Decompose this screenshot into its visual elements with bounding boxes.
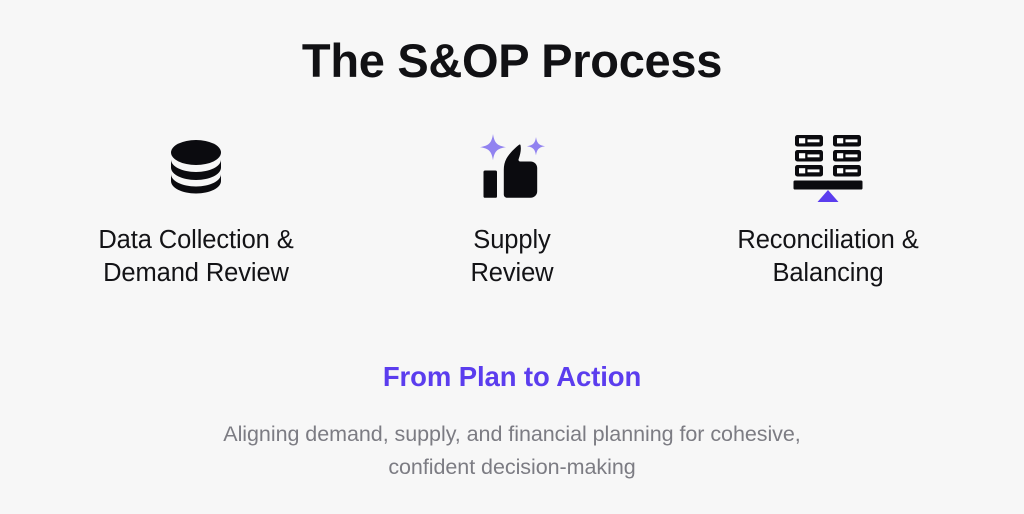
slide-canvas: The S&OP Process Data Collection & Deman…	[0, 0, 1024, 514]
inventory-blocks	[795, 135, 861, 177]
process-step-label: Supply Review	[470, 224, 553, 289]
process-step-label: Reconciliation & Balancing	[737, 224, 918, 289]
process-steps-row: Data Collection & Demand Review Supply R…	[46, 128, 978, 289]
database-icon	[146, 128, 246, 202]
page-title: The S&OP Process	[0, 33, 1024, 88]
balance-scale-icon	[778, 128, 878, 202]
fulcrum-triangle	[818, 190, 839, 202]
process-step-label: Data Collection & Demand Review	[98, 224, 293, 289]
thumbs-up-sparkle-icon	[462, 128, 562, 202]
process-step-supply-review: Supply Review	[362, 128, 662, 289]
subtitle: Aligning demand, supply, and financial p…	[0, 418, 1024, 483]
balance-beam	[794, 181, 863, 190]
thumb-base	[484, 171, 498, 198]
sparkle-small	[527, 137, 545, 155]
thumb-hand	[504, 144, 537, 197]
process-step-data-collection: Data Collection & Demand Review	[46, 128, 346, 289]
tagline: From Plan to Action	[0, 360, 1024, 393]
process-step-reconciliation: Reconciliation & Balancing	[678, 128, 978, 289]
sparkle-large	[480, 134, 506, 160]
